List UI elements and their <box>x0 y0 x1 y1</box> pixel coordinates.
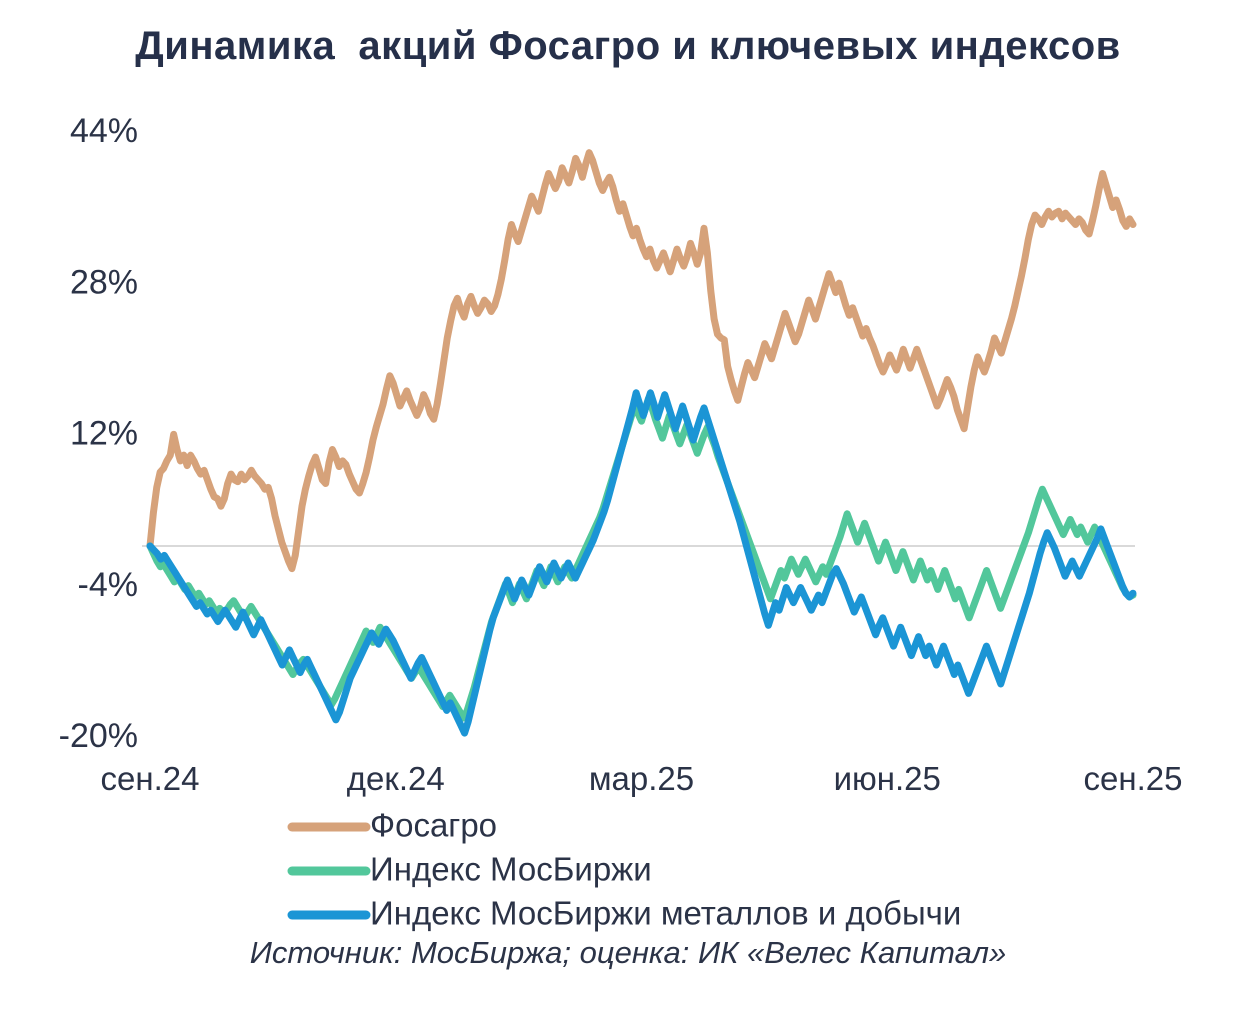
line-chart-canvas: 44%28%12%-4%-20% сен.24дек.24мар.25июн.2… <box>0 0 1256 1036</box>
x-tick-label: июн.25 <box>834 760 941 797</box>
y-tick-label: -4% <box>78 566 138 604</box>
y-tick-label: -20% <box>59 717 138 755</box>
y-tick-label: 28% <box>70 263 138 301</box>
y-tick-label: 12% <box>70 415 138 453</box>
y-axis-tick-labels: 44%28%12%-4%-20% <box>59 112 138 755</box>
legend-label: Индекс МосБиржи металлов и добычи <box>370 895 961 932</box>
legend-label: Фосагро <box>370 807 497 844</box>
x-tick-label: сен.24 <box>101 760 200 797</box>
x-axis-tick-labels: сен.24дек.24мар.25июн.25сен.25 <box>101 760 1183 797</box>
x-tick-label: сен.25 <box>1084 760 1183 797</box>
series-line <box>150 393 1133 733</box>
y-tick-label: 44% <box>70 112 138 150</box>
series-line <box>150 153 1133 569</box>
x-tick-label: дек.24 <box>347 760 445 797</box>
series-lines-group <box>150 153 1133 733</box>
legend-label: Индекс МосБиржи <box>370 851 652 888</box>
chart-figure: Динамика акций Фосагро и ключевых индекс… <box>0 0 1256 1036</box>
x-tick-label: мар.25 <box>589 760 694 797</box>
chart-legend: ФосагроИндекс МосБиржиИндекс МосБиржи ме… <box>292 807 961 932</box>
source-note: Источник: МосБиржа; оценка: ИК «Велес Ка… <box>0 935 1256 971</box>
